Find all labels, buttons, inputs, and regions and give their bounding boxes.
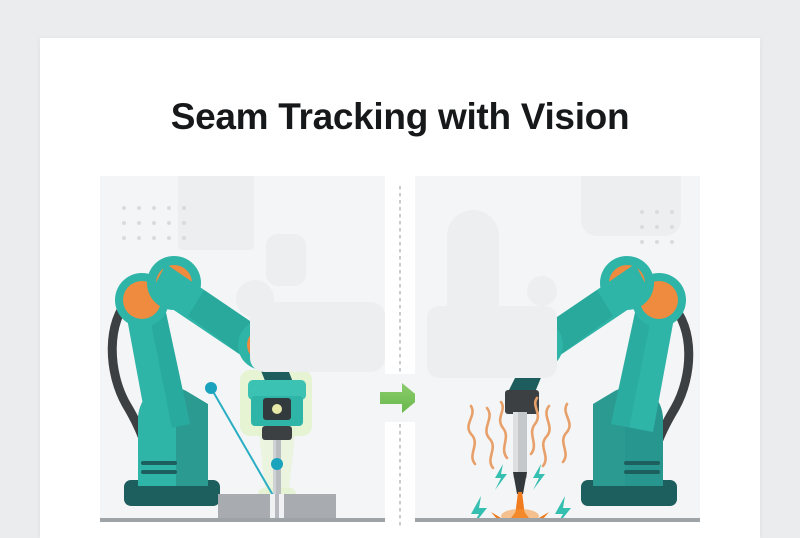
illustration-area [100, 176, 700, 538]
bg-shape-circle-right [527, 276, 557, 306]
floor-base [415, 522, 700, 538]
floor-line [415, 518, 700, 522]
camera-lens-icon [272, 404, 282, 414]
camera-mount-bracket [262, 426, 292, 440]
grid-dot [137, 236, 141, 240]
bg-shape-tall-left [178, 176, 254, 250]
grid-dot [640, 210, 644, 214]
welding-torch-tip [513, 472, 527, 494]
dot-grid-right [640, 210, 674, 244]
seam-center-line [275, 494, 279, 518]
base-vent-line [624, 470, 660, 474]
grid-dot [182, 206, 186, 210]
page-title: Seam Tracking with Vision [40, 96, 760, 138]
welding-panel [415, 176, 700, 538]
grid-dot [670, 240, 674, 244]
scan-origin-point [205, 382, 217, 394]
grid-dot [152, 206, 156, 210]
torch-collar [505, 390, 539, 414]
panel-divider [399, 186, 401, 528]
grid-dot [655, 225, 659, 229]
workpiece-block-right [284, 494, 336, 518]
tool-center-point [271, 458, 283, 470]
grid-dot [152, 221, 156, 225]
grid-dot [137, 206, 141, 210]
bg-shape-tall-right [447, 210, 499, 308]
base-vent-line [624, 461, 660, 465]
grid-dot [122, 221, 126, 225]
grid-dot [640, 240, 644, 244]
welding-torch-highlight [513, 412, 518, 478]
base-vent-line [141, 470, 177, 474]
vision-scan-panel [100, 176, 385, 538]
grid-dot [655, 210, 659, 214]
tool-stem-highlight [273, 440, 276, 502]
grid-dot [122, 236, 126, 240]
grid-dot [182, 236, 186, 240]
grid-dot [670, 225, 674, 229]
grid-dot [152, 236, 156, 240]
grid-dot [122, 206, 126, 210]
bg-shape-panel-right [427, 306, 557, 378]
grid-dot [167, 236, 171, 240]
bg-shape-panel-left [250, 302, 385, 372]
smoke-wisps-right [531, 398, 570, 466]
floor-base [100, 522, 385, 538]
slide-card: Seam Tracking with Vision [40, 38, 760, 538]
grid-dot [640, 225, 644, 229]
workpiece-block-left [218, 494, 270, 518]
floor-line [100, 518, 385, 522]
grid-dot [167, 206, 171, 210]
dot-grid-left [122, 206, 186, 240]
base-vent-line [141, 461, 177, 465]
bolt-icon [533, 464, 545, 490]
slide-page: Seam Tracking with Vision [0, 0, 800, 538]
bg-shape-square-left [266, 234, 306, 286]
grid-dot [655, 240, 659, 244]
grid-dot [182, 221, 186, 225]
grid-dot [167, 221, 171, 225]
smoke-wisps-left [468, 402, 507, 468]
grid-dot [670, 210, 674, 214]
bolt-icon [495, 464, 507, 490]
grid-dot [137, 221, 141, 225]
